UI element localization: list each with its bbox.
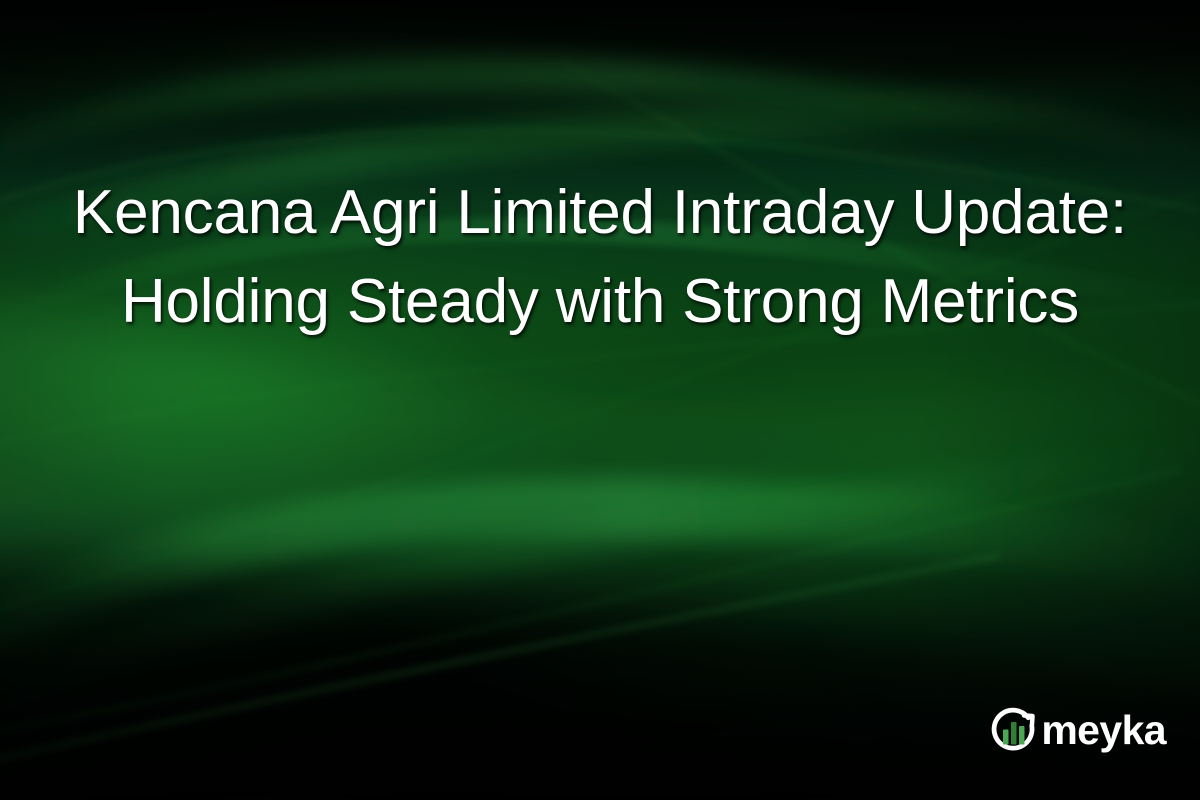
background-vignette-corners xyxy=(0,0,1200,800)
meyka-logo[interactable]: meyka xyxy=(989,702,1166,756)
page-title: Kencana Agri Limited Intraday Update: Ho… xyxy=(56,168,1144,346)
headline-container: Kencana Agri Limited Intraday Update: Ho… xyxy=(0,168,1200,346)
meyka-bar-chart-circle-icon xyxy=(989,704,1039,754)
brand-name: meyka xyxy=(1041,710,1166,751)
article-banner: Kencana Agri Limited Intraday Update: Ho… xyxy=(0,0,1200,800)
